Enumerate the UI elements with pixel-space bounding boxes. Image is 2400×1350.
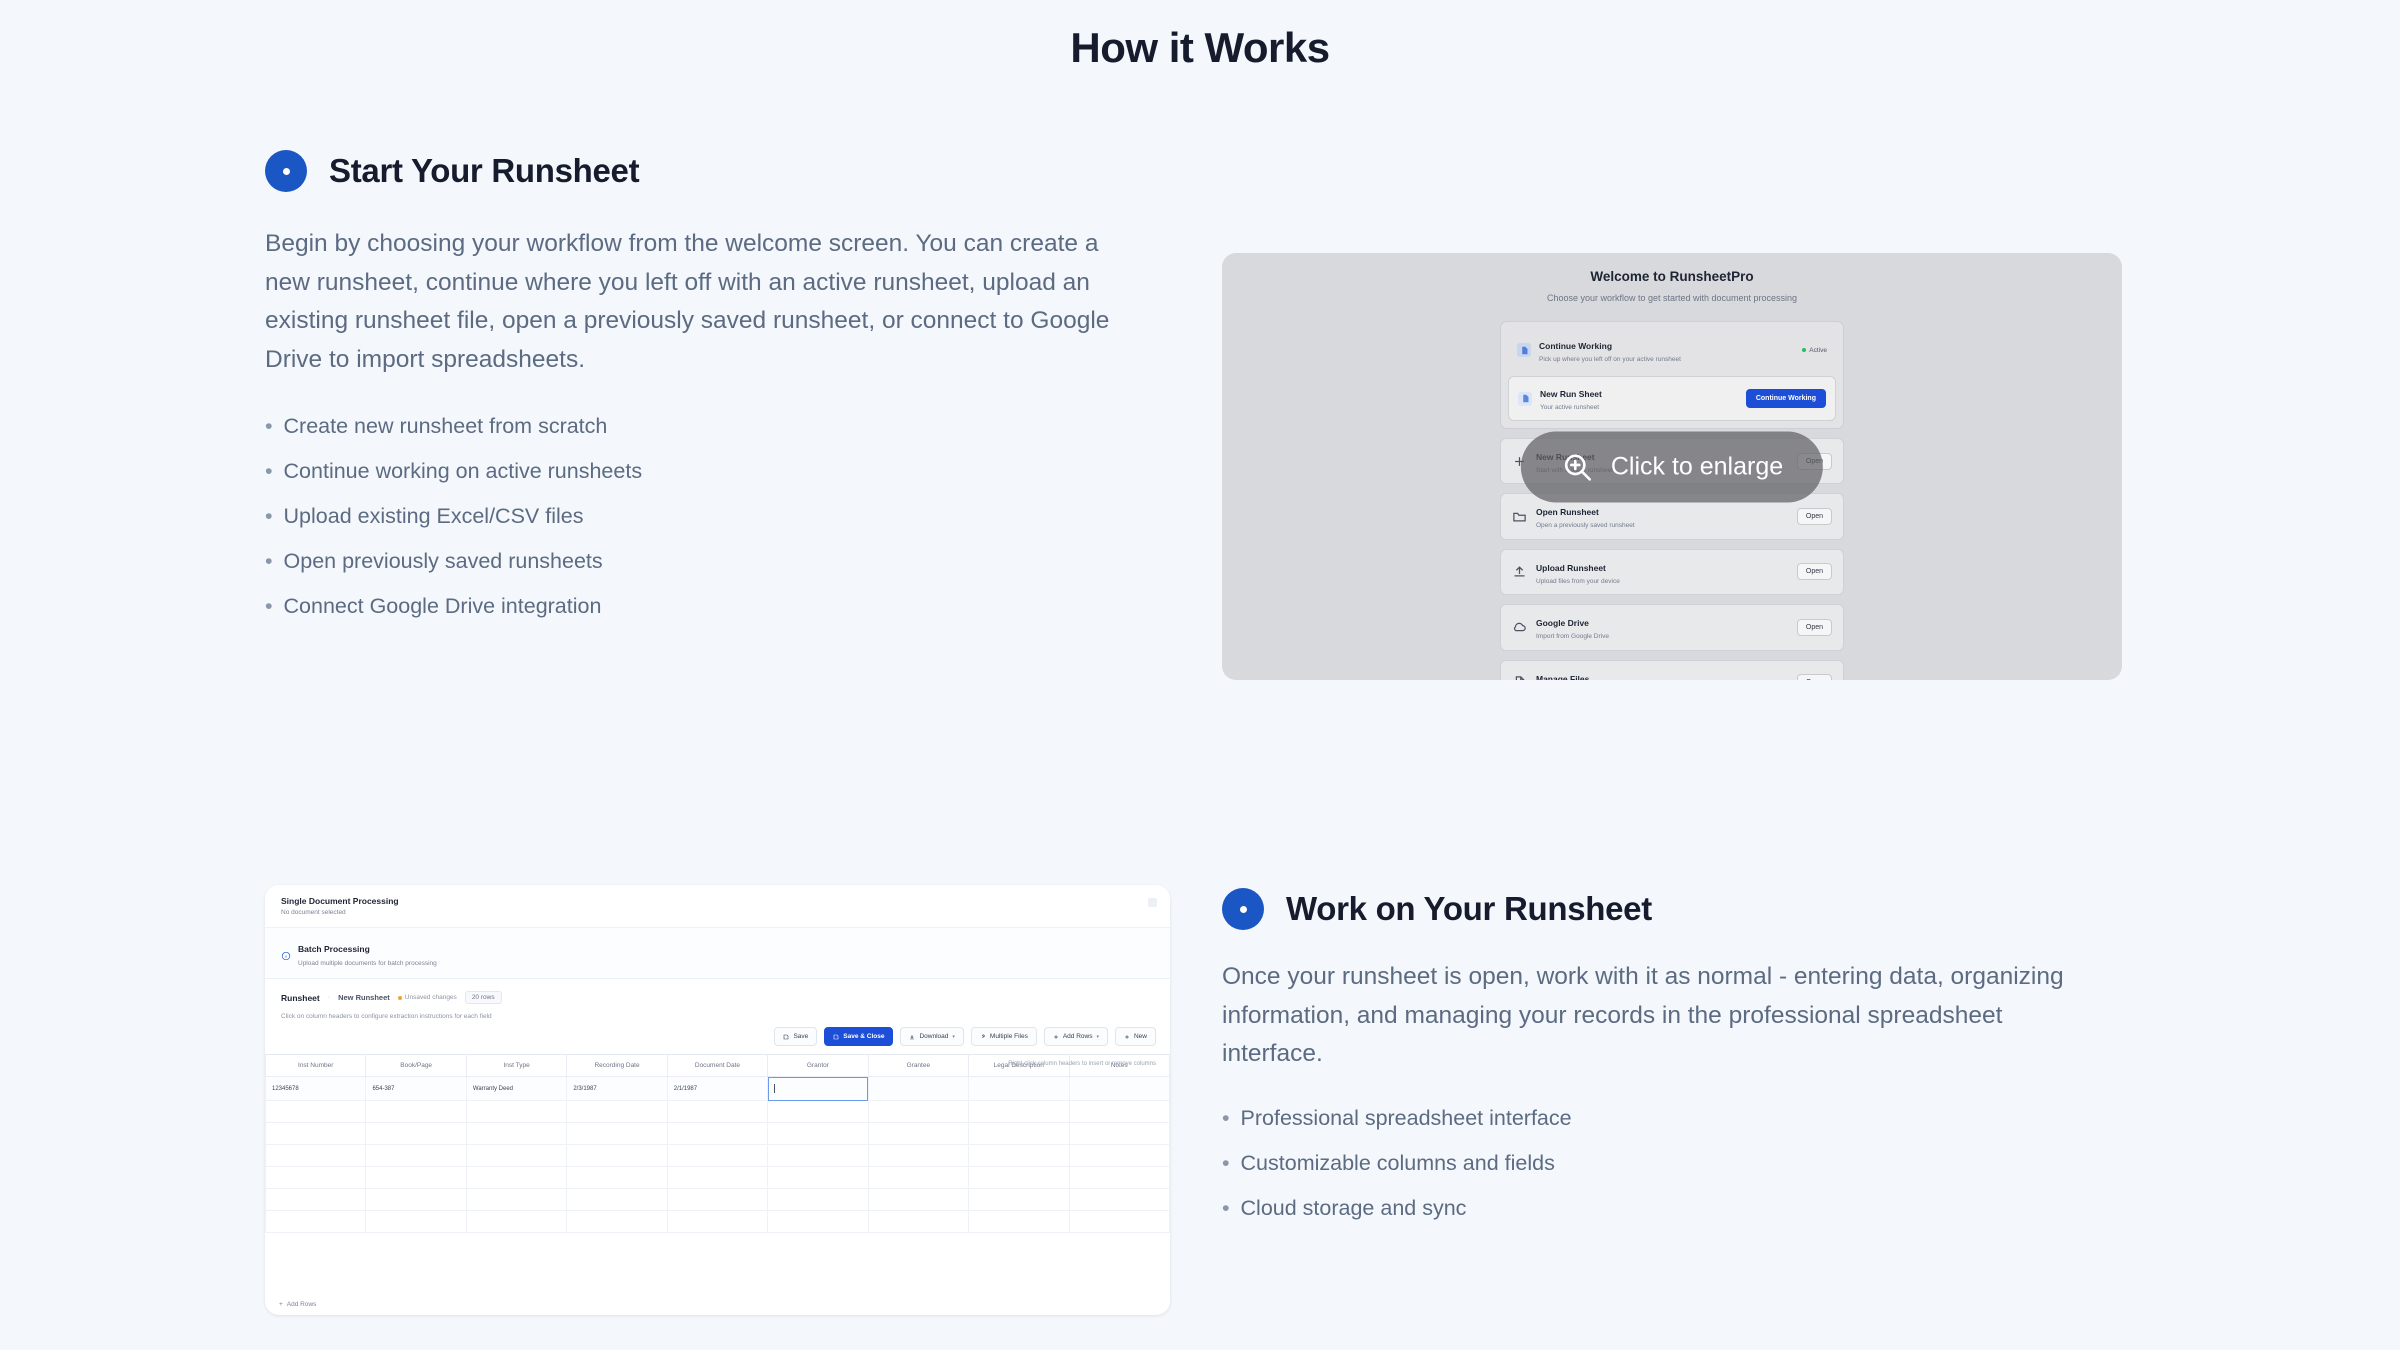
section-work-header: Work on Your Runsheet (1222, 888, 2142, 930)
active-runsheet-desc: Your active runsheet (1540, 404, 1738, 412)
bullet-dot-icon: • (1222, 1196, 1230, 1221)
runsheet-breadcrumb: Runsheet · New Runsheet Unsaved changes … (265, 979, 1170, 1004)
list-item-label: Professional spreadsheet interface (1241, 1106, 1572, 1131)
table-row (266, 1167, 1170, 1189)
cell-inst-number[interactable]: 12345678 (266, 1077, 366, 1101)
workflow-card-title: Upload Runsheet (1536, 563, 1606, 573)
upload-icon (1512, 564, 1527, 579)
list-item: •Cloud storage and sync (1222, 1196, 2142, 1221)
list-item-label: Continue working on active runsheets (284, 459, 643, 484)
add-rows-button[interactable]: Add Rows ▾ (1044, 1027, 1108, 1046)
column-header-grantee[interactable]: Grantee (868, 1055, 968, 1077)
open-button[interactable]: Open (1797, 563, 1832, 580)
workflow-card-desc: Import from Google Drive (1536, 633, 1788, 641)
column-header-hint: Click on column headers to configure ext… (265, 1004, 1170, 1020)
cloud-icon (1512, 620, 1527, 635)
file-icon (1512, 675, 1527, 680)
table-row: 12345678 654-387 Warranty Deed 2/3/1987 … (266, 1077, 1170, 1101)
click-to-enlarge-overlay[interactable]: Click to enlarge (1521, 431, 1823, 502)
section-work-text-column: Work on Your Runsheet Once your runsheet… (1222, 888, 2142, 1241)
row-count-badge: 20 rows (465, 991, 502, 1004)
save-and-close-button[interactable]: Save & Close (824, 1027, 893, 1046)
link-icon (980, 1034, 986, 1040)
how-it-works-page: How it Works Start Your Runsheet Begin b… (0, 0, 2400, 1350)
column-header-inst-number[interactable]: Inst Number (266, 1055, 366, 1077)
active-runsheet-title: New Run Sheet (1540, 389, 1602, 399)
section-start-bullet-list: •Create new runsheet from scratch •Conti… (265, 414, 1145, 619)
open-button[interactable]: Open (1797, 674, 1832, 680)
single-document-processing-band: Single Document Processing No document s… (265, 885, 1170, 928)
list-item-label: Create new runsheet from scratch (284, 414, 608, 439)
bullet-dot-icon: • (265, 414, 273, 439)
welcome-title: Welcome to RunsheetPro (1222, 269, 2122, 284)
breadcrumb-label: Runsheet (281, 993, 320, 1003)
column-header-document-date[interactable]: Document Date (667, 1055, 767, 1077)
column-header-grantor[interactable]: Grantor (768, 1055, 868, 1077)
cell-grantor-selected[interactable] (768, 1077, 868, 1101)
sheet-icon (1518, 392, 1532, 406)
list-item: •Connect Google Drive integration (265, 594, 1145, 619)
table-body: 12345678 654-387 Warranty Deed 2/3/1987 … (266, 1077, 1170, 1233)
section-start-header: Start Your Runsheet (265, 150, 1145, 192)
batch-processing-title: Batch Processing (298, 944, 370, 954)
click-to-enlarge-label: Click to enlarge (1611, 452, 1783, 481)
plus-icon: + (279, 1301, 283, 1308)
workflow-card-title: Google Drive (1536, 618, 1589, 628)
multiple-files-button-label: Multiple Files (990, 1033, 1028, 1040)
cell-recording-date[interactable]: 2/3/1987 (567, 1077, 667, 1101)
workflow-card-desc: Open a previously saved runsheet (1536, 522, 1788, 530)
workflow-card-desc: Upload files from your device (1536, 578, 1788, 586)
workflow-card-title: Manage Files (1536, 674, 1589, 680)
list-item-label: Cloud storage and sync (1241, 1196, 1467, 1221)
continue-working-row[interactable]: Continue Working Pick up where you left … (1508, 329, 1836, 371)
list-item: •Professional spreadsheet interface (1222, 1106, 2142, 1131)
save-and-close-button-label: Save & Close (843, 1033, 884, 1040)
table-row (266, 1145, 1170, 1167)
add-rows-button-label: Add Rows (1063, 1033, 1093, 1040)
save-button[interactable]: Save (774, 1027, 817, 1046)
workflow-card-title: Open Runsheet (1536, 507, 1599, 517)
cell-book-page[interactable]: 654-387 (366, 1077, 466, 1101)
cell-grantee[interactable] (868, 1077, 968, 1101)
single-document-processing-title: Single Document Processing (281, 896, 1154, 906)
column-header-inst-type[interactable]: Inst Type (466, 1055, 566, 1077)
chevron-down-icon: ▾ (952, 1034, 955, 1040)
bullet-dot-icon: • (1222, 1106, 1230, 1131)
bullet-dot-icon: • (265, 504, 273, 529)
download-icon (909, 1034, 915, 1040)
close-icon[interactable] (1148, 898, 1157, 907)
section-start-text-column: Start Your Runsheet Begin by choosing yo… (265, 150, 1145, 639)
table-row (266, 1123, 1170, 1145)
plus-icon (1124, 1034, 1130, 1040)
plus-icon (1053, 1034, 1059, 1040)
status-badge: Active (1802, 347, 1827, 354)
unsaved-changes-badge: Unsaved changes (398, 994, 457, 1001)
welcome-screenshot-thumbnail[interactable]: Welcome to RunsheetPro Choose your workf… (1222, 253, 2122, 680)
section-start-body: Begin by choosing your workflow from the… (265, 225, 1145, 380)
save-icon (833, 1034, 839, 1040)
bullet-dot-icon: • (265, 549, 273, 574)
section-work-body: Once your runsheet is open, work with it… (1222, 958, 2102, 1074)
page-title: How it Works (0, 0, 2400, 72)
step-badge-icon (265, 150, 307, 192)
open-button[interactable]: Open (1797, 619, 1832, 636)
table-row (266, 1189, 1170, 1211)
list-item: •Open previously saved runsheets (265, 549, 1145, 574)
workflow-card-google-drive[interactable]: Google Drive Import from Google Drive Op… (1500, 604, 1844, 650)
folder-icon (1512, 509, 1527, 524)
magnifier-plus-icon (1561, 450, 1594, 483)
batch-processing-sub: Upload multiple documents for batch proc… (298, 960, 437, 967)
workflow-card-upload-runsheet[interactable]: Upload Runsheet Upload files from your d… (1500, 549, 1844, 595)
list-item-label: Upload existing Excel/CSV files (284, 504, 584, 529)
list-item: •Continue working on active runsheets (265, 459, 1145, 484)
save-button-label: Save (793, 1033, 808, 1040)
new-button-label: New (1134, 1033, 1147, 1040)
save-icon (783, 1034, 789, 1040)
cell-inst-type[interactable]: Warranty Deed (466, 1077, 566, 1101)
list-item-label: Connect Google Drive integration (284, 594, 602, 619)
active-runsheet-row[interactable]: New Run Sheet Your active runsheet Conti… (1508, 376, 1836, 420)
step-badge-icon (1222, 888, 1264, 930)
continue-working-title: Continue Working (1539, 341, 1612, 351)
unsaved-changes-label: Unsaved changes (405, 994, 457, 1001)
cell-legal-description[interactable] (969, 1077, 1069, 1101)
cell-document-date[interactable]: 2/1/1987 (667, 1077, 767, 1101)
continue-working-desc: Pick up where you left off on your activ… (1539, 356, 1794, 364)
table-row (266, 1211, 1170, 1233)
single-document-processing-sub: No document selected (281, 909, 1154, 916)
list-item-label: Open previously saved runsheets (284, 549, 603, 574)
table-row (266, 1101, 1170, 1123)
status-badge-label: Active (1809, 347, 1827, 354)
new-button[interactable]: New (1115, 1027, 1156, 1046)
list-item: •Customizable columns and fields (1222, 1151, 2142, 1176)
breadcrumb-runsheet-name: New Runsheet (338, 993, 390, 1002)
add-rows-footer-button[interactable]: + Add Rows (279, 1301, 316, 1308)
open-button[interactable]: Open (1797, 508, 1832, 525)
batch-processing-band: Batch Processing Upload multiple documen… (265, 928, 1170, 979)
bullet-dot-icon: • (265, 594, 273, 619)
chevron-down-icon: ▾ (1096, 1034, 1099, 1040)
cell-notes[interactable] (1069, 1077, 1170, 1101)
multiple-files-button[interactable]: Multiple Files (971, 1027, 1037, 1046)
info-icon (281, 948, 291, 958)
spreadsheet-toolbar: Save Save & Close Download ▾ Multiple Fi… (774, 1027, 1156, 1046)
bullet-dot-icon: • (265, 459, 273, 484)
add-rows-footer-label: Add Rows (287, 1301, 317, 1308)
welcome-subtitle: Choose your workflow to get started with… (1222, 293, 2122, 303)
document-icon (1517, 343, 1531, 357)
column-header-book-page[interactable]: Book/Page (366, 1055, 466, 1077)
download-button[interactable]: Download ▾ (900, 1027, 963, 1046)
list-item: •Upload existing Excel/CSV files (265, 504, 1145, 529)
breadcrumb-separator: · (328, 994, 330, 1001)
list-item: •Create new runsheet from scratch (265, 414, 1145, 439)
workflow-card-manage-files[interactable]: Manage Files Organize and manage your up… (1500, 660, 1844, 680)
download-button-label: Download (919, 1033, 948, 1040)
section-start-title: Start Your Runsheet (329, 152, 639, 190)
list-item-label: Customizable columns and fields (1241, 1151, 1555, 1176)
runsheet-table: Inst Number Book/Page Inst Type Recordin… (265, 1054, 1170, 1233)
column-header-recording-date[interactable]: Recording Date (567, 1055, 667, 1077)
spreadsheet-screenshot-thumbnail[interactable]: Single Document Processing No document s… (265, 885, 1170, 1315)
bullet-dot-icon: • (1222, 1151, 1230, 1176)
section-work-title: Work on Your Runsheet (1286, 890, 1652, 928)
continue-working-group: Continue Working Pick up where you left … (1500, 321, 1844, 429)
section-work-bullet-list: •Professional spreadsheet interface •Cus… (1222, 1106, 2142, 1221)
toolbar-hint: Right-click column headers to insert or … (1008, 1061, 1156, 1067)
section-work-on-your-runsheet: Work on Your Runsheet Once your runsheet… (1222, 888, 2142, 1241)
continue-working-button[interactable]: Continue Working (1746, 389, 1826, 408)
